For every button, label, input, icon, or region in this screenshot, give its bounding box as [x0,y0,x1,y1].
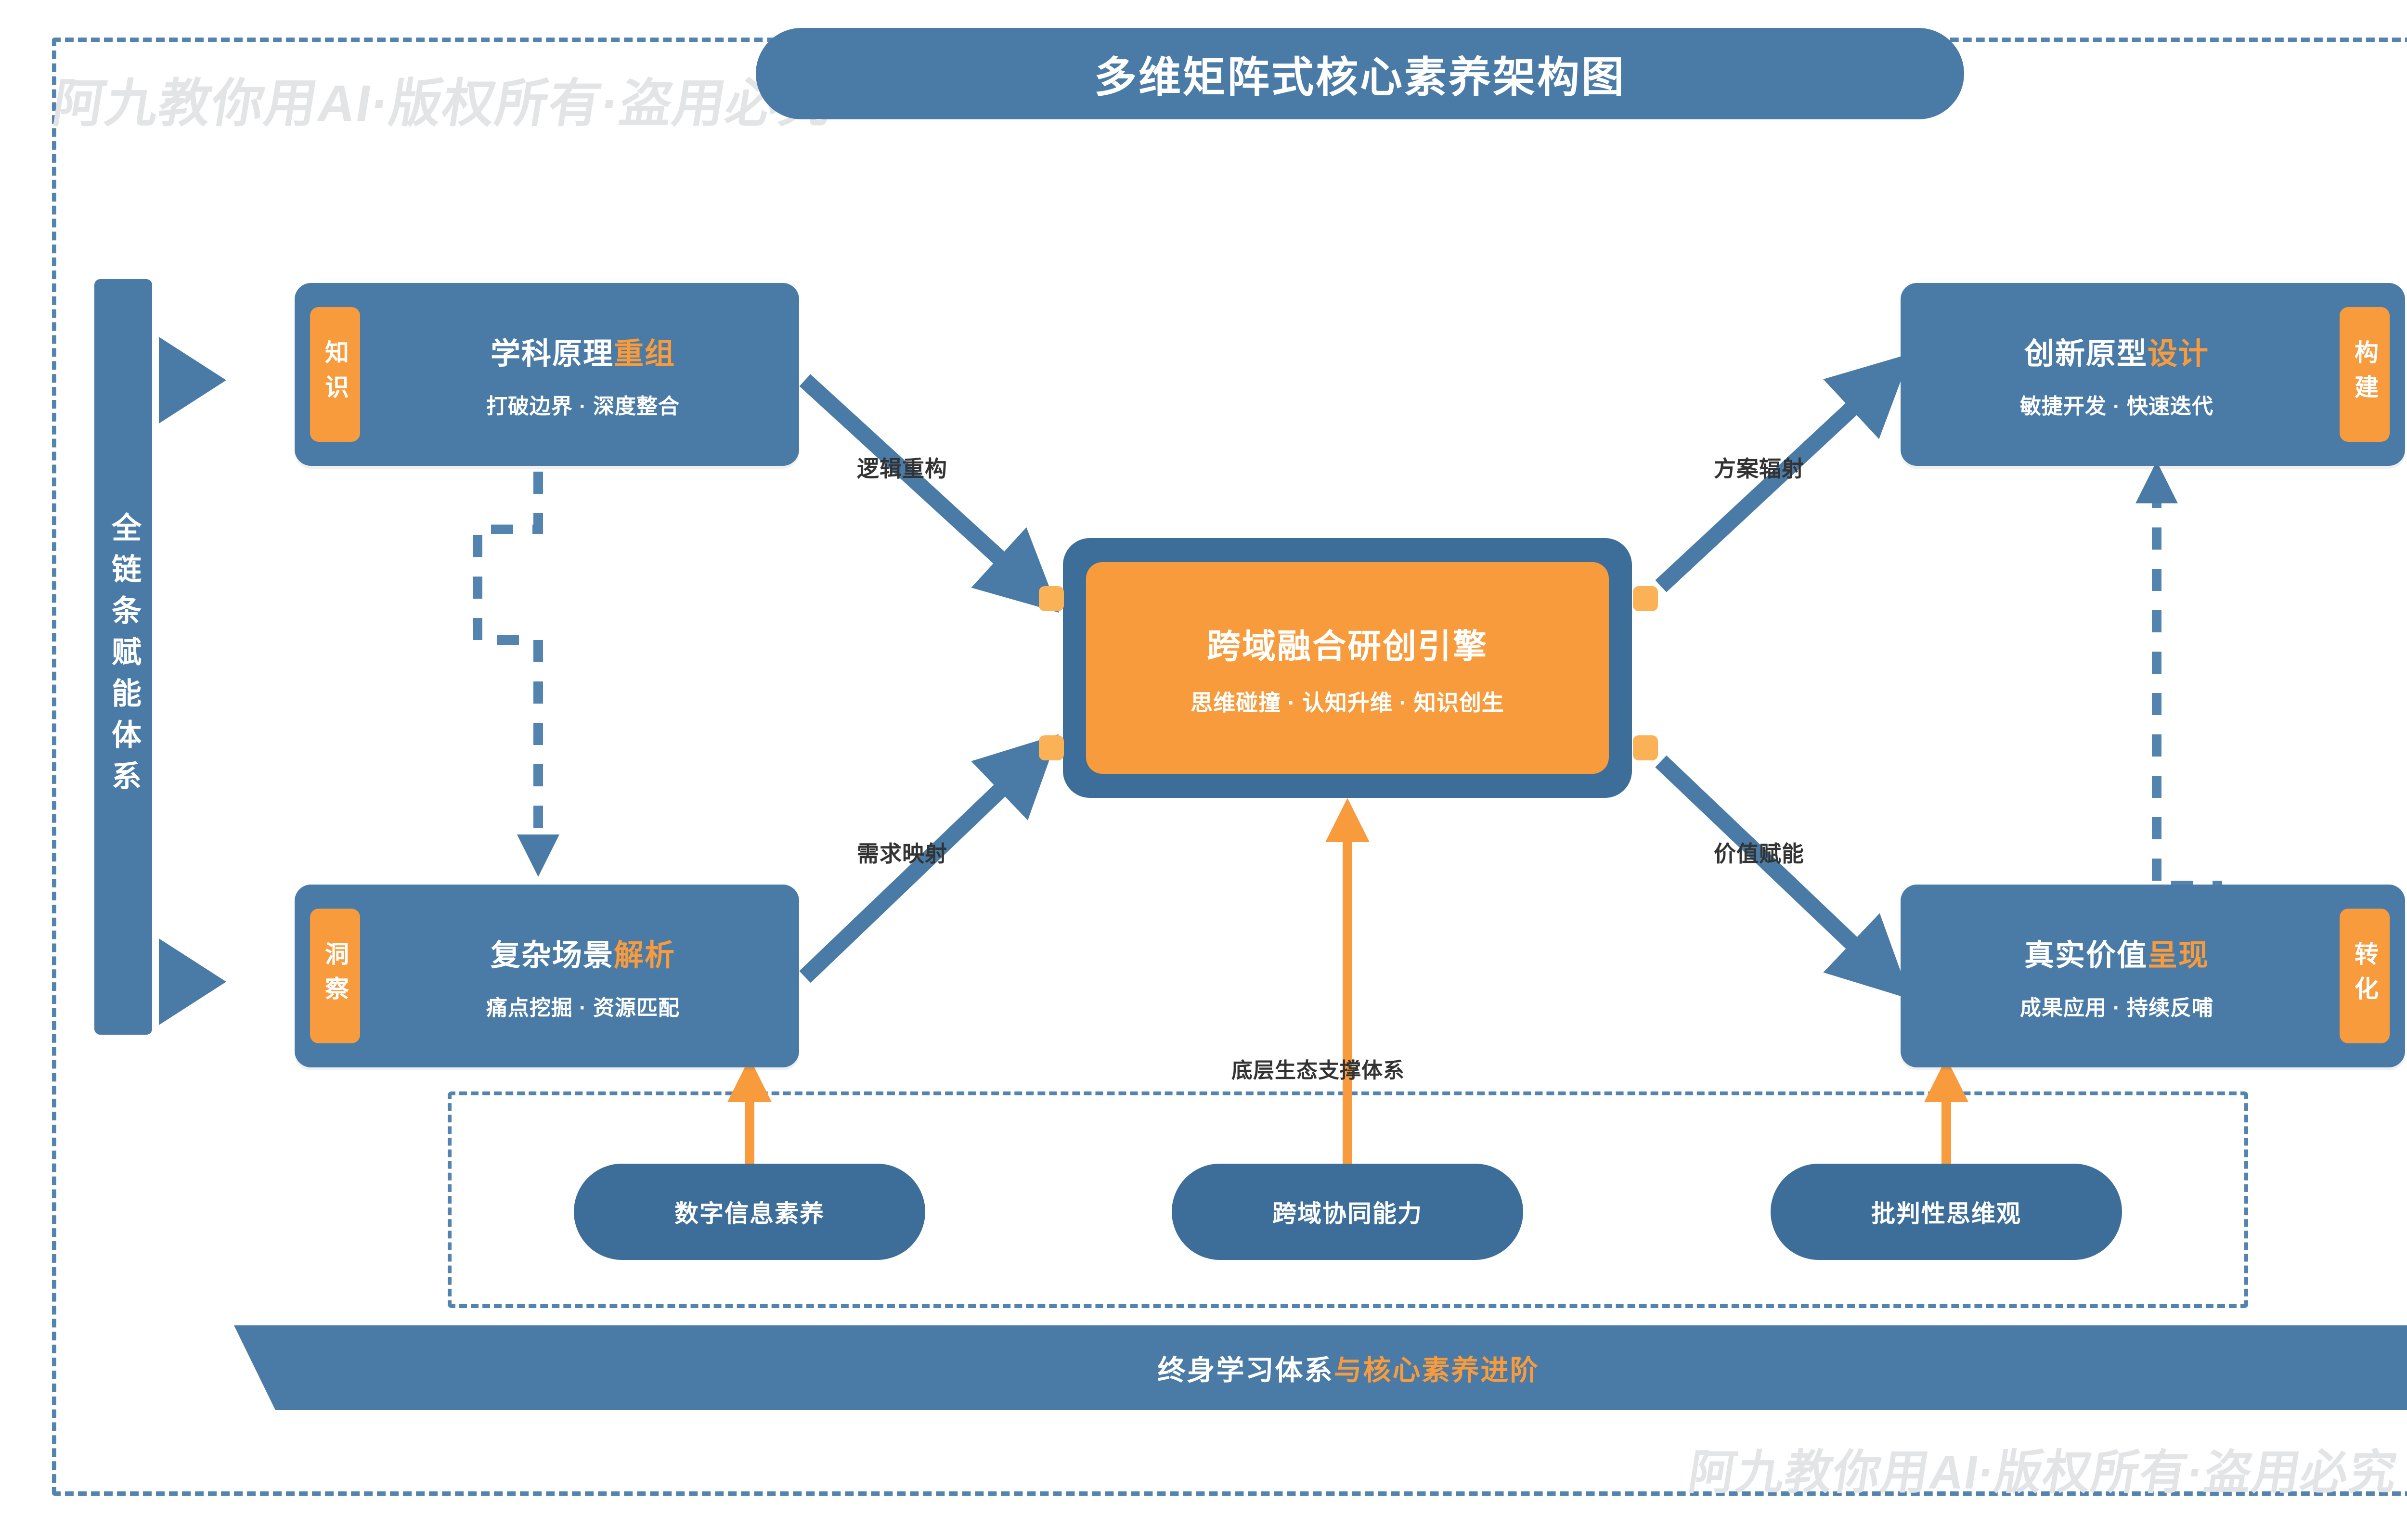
left-bar-label: 全链条赋能体系 [108,512,138,802]
stage-box-value[interactable]: 转化 真实价值呈现 成果应用 · 持续反哺 [1901,885,2405,1067]
ecosystem-pill-cross-domain[interactable]: 跨域协同能力 [1172,1164,1523,1260]
badge-prototype-label: 构建 [2353,340,2377,409]
badge-knowledge-label: 知识 [323,340,347,409]
box-value-title-plain: 真实价值 [2024,939,2148,972]
badge-insight: 洞察 [310,909,360,1043]
edge-label-logic: 逻辑重构 [857,451,947,483]
core-engine-subtitle: 思维碰撞 · 认知升维 · 知识创生 [1191,685,1504,717]
box-prototype-body: 创新原型设计 敏捷开发 · 快速迭代 [1901,283,2333,466]
stage-box-prototype[interactable]: 构建 创新原型设计 敏捷开发 · 快速迭代 [1901,283,2405,466]
stage-box-knowledge[interactable]: 知识 学科原理重组 打破边界 · 深度整合 [295,283,799,466]
box-insight-title: 复杂场景解析 [491,931,675,974]
edge-label-ecosystem: 底层生态支撑体系 [1231,1053,1405,1084]
connector-dot-bottom-right [1633,735,1658,760]
box-insight-title-plain: 复杂场景 [491,939,614,972]
connector-dot-top-left [1039,586,1064,611]
box-prototype-subtitle: 敏捷开发 · 快速迭代 [2020,389,2213,420]
edge-label-radiate: 方案辐射 [1714,451,1804,483]
box-knowledge-title-highlight: 重组 [614,337,675,371]
edge-label-demand: 需求映射 [857,836,947,868]
box-value-title: 真实价值呈现 [2024,931,2209,974]
stage-box-insight[interactable]: 洞察 复杂场景解析 痛点挖掘 · 资源匹配 [295,885,799,1067]
bottom-banner-text: 终身学习体系与核心素养进阶 [1157,1347,1539,1388]
bottom-banner-plain: 终身学习体系 [1157,1355,1333,1386]
bottom-banner: 终身学习体系与核心素养进阶 [234,1325,2407,1410]
badge-value-label: 转化 [2353,941,2377,1011]
badge-insight-label: 洞察 [323,941,347,1011]
core-engine-title: 跨域融合研创引擎 [1207,619,1488,668]
ecosystem-pill-digital-literacy[interactable]: 数字信息素养 [574,1164,925,1260]
box-insight-subtitle: 痛点挖掘 · 资源匹配 [486,990,680,1021]
diagram-canvas: 阿九教你用AI·版权所有·盗用必究 阿九教你用AI·版权所有·盗用必究 [0,0,2407,1540]
page-title: 多维矩阵式核心素养架构图 [756,28,1964,119]
box-prototype-title: 创新原型设计 [2024,329,2209,372]
connector-dot-bottom-left [1039,735,1064,760]
box-value-title-highlight: 呈现 [2148,939,2209,972]
box-prototype-title-highlight: 设计 [2148,337,2209,371]
bottom-banner-highlight: 与核心素养进阶 [1334,1355,1540,1386]
badge-knowledge: 知识 [310,307,360,442]
edge-label-value: 价值赋能 [1714,836,1804,868]
box-knowledge-subtitle: 打破边界 · 深度整合 [486,389,680,420]
box-knowledge-body: 学科原理重组 打破边界 · 深度整合 [367,283,799,466]
box-knowledge-title-plain: 学科原理 [491,337,614,371]
box-insight-body: 复杂场景解析 痛点挖掘 · 资源匹配 [367,885,799,1067]
box-knowledge-title: 学科原理重组 [491,329,675,372]
box-insight-title-highlight: 解析 [614,939,675,972]
box-value-subtitle: 成果应用 · 持续反哺 [2020,990,2213,1021]
core-engine-node[interactable]: 跨域融合研创引擎 思维碰撞 · 认知升维 · 知识创生 [1063,538,1632,798]
left-vertical-bar: 全链条赋能体系 [94,279,152,1035]
badge-value: 转化 [2340,909,2390,1043]
box-value-body: 真实价值呈现 成果应用 · 持续反哺 [1901,885,2333,1067]
badge-prototype: 构建 [2340,307,2390,442]
ecosystem-pill-critical-thinking[interactable]: 批判性思维观 [1771,1164,2122,1260]
box-prototype-title-plain: 创新原型 [2024,337,2148,371]
connector-dot-top-right [1633,586,1658,611]
core-engine-inner: 跨域融合研创引擎 思维碰撞 · 认知升维 · 知识创生 [1086,562,1609,774]
